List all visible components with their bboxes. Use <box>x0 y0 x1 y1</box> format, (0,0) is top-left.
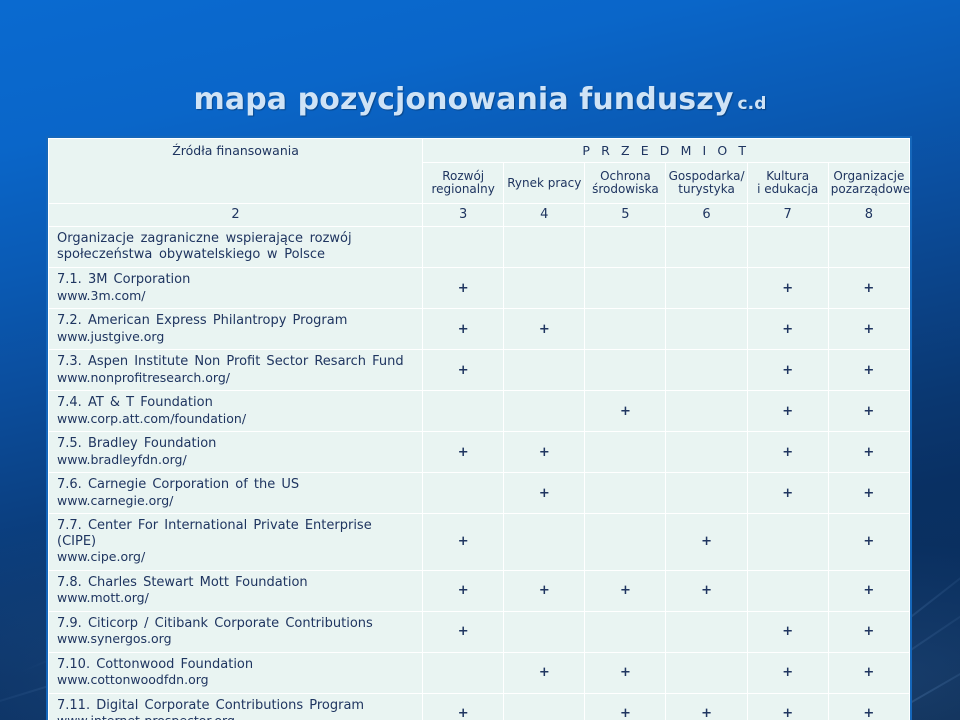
mark-cell-col7: + <box>747 391 828 432</box>
source-url[interactable]: www.carnegie.org/ <box>57 493 414 509</box>
mark-cell-col7 <box>747 570 828 611</box>
source-url[interactable]: www.nonprofitresearch.org/ <box>57 370 414 386</box>
source-cell: 7.8. Charles Stewart Mott Foundationwww.… <box>49 570 423 611</box>
mark-cell-col5 <box>585 268 666 309</box>
mark-cell-col3 <box>423 391 504 432</box>
mark-cell-col3 <box>423 227 504 268</box>
mark-cell-col5 <box>585 350 666 391</box>
table-row: 7.7. Center For International Private En… <box>49 514 910 571</box>
column-number-7: 7 <box>747 204 828 227</box>
mark-cell-col7 <box>747 514 828 571</box>
funding-sources-table: Źródła finansowania P R Z E D M I O T Ro… <box>48 138 910 720</box>
source-url[interactable]: www.3m.com/ <box>57 288 414 304</box>
table-row: 7.9. Citicorp / Citibank Corporate Contr… <box>49 611 910 652</box>
slide-title: mapa pozycjonowania funduszyc.d <box>0 82 960 117</box>
mark-cell-col5 <box>585 514 666 571</box>
mark-cell-col5 <box>585 309 666 350</box>
table-section-row: Organizacje zagraniczne wspierające rozw… <box>49 227 910 268</box>
mark-cell-col6: + <box>666 693 747 720</box>
table-row: 7.8. Charles Stewart Mott Foundationwww.… <box>49 570 910 611</box>
header-column-3: Rozwójregionalny <box>423 163 504 204</box>
mark-cell-col8: + <box>828 652 909 693</box>
source-name: 7.6. Carnegie Corporation of the US <box>57 477 414 493</box>
mark-cell-col7: + <box>747 693 828 720</box>
source-cell: 7.5. Bradley Foundationwww.bradleyfdn.or… <box>49 432 423 473</box>
mark-cell-col5 <box>585 473 666 514</box>
mark-cell-col4 <box>504 514 585 571</box>
slide-title-main: mapa pozycjonowania funduszy <box>194 82 734 117</box>
header-column-5: Ochronaśrodowiska <box>585 163 666 204</box>
mark-cell-col4: + <box>504 473 585 514</box>
mark-cell-col4: + <box>504 652 585 693</box>
mark-cell-col7: + <box>747 652 828 693</box>
funding-sources-table-container: Źródła finansowania P R Z E D M I O T Ro… <box>46 136 912 720</box>
source-url[interactable]: www.cipe.org/ <box>57 549 414 565</box>
source-name: 7.1. 3M Corporation <box>57 272 414 288</box>
source-url[interactable]: www.synergos.org <box>57 631 414 647</box>
table-head: Źródła finansowania P R Z E D M I O T Ro… <box>49 139 910 227</box>
source-url[interactable]: www.justgive.org <box>57 329 414 345</box>
mark-cell-col3: + <box>423 693 504 720</box>
mark-cell-col5: + <box>585 391 666 432</box>
mark-cell-col6 <box>666 227 747 268</box>
source-url[interactable]: www.corp.att.com/foundation/ <box>57 411 414 427</box>
table-row: 7.2. American Express Philantropy Progra… <box>49 309 910 350</box>
mark-cell-col3: + <box>423 350 504 391</box>
source-name: 7.8. Charles Stewart Mott Foundation <box>57 575 414 591</box>
header-column-6: Gospodarka/turystyka <box>666 163 747 204</box>
mark-cell-col8: + <box>828 432 909 473</box>
source-url[interactable]: www.mott.org/ <box>57 590 414 606</box>
source-cell: 7.11. Digital Corporate Contributions Pr… <box>49 693 423 720</box>
mark-cell-col5: + <box>585 570 666 611</box>
source-url[interactable]: www.internet-prospector.org <box>57 713 414 720</box>
header-group-label: P R Z E D M I O T <box>423 139 910 163</box>
mark-cell-col7: + <box>747 432 828 473</box>
mark-cell-col6 <box>666 309 747 350</box>
mark-cell-col8: + <box>828 693 909 720</box>
table-row: 7.5. Bradley Foundationwww.bradleyfdn.or… <box>49 432 910 473</box>
slide-canvas: mapa pozycjonowania funduszyc.d Źródła f… <box>0 0 960 720</box>
header-column-4: Rynek pracy <box>504 163 585 204</box>
mark-cell-col6 <box>666 611 747 652</box>
mark-cell-col5: + <box>585 652 666 693</box>
header-column-line: Rynek pracy <box>506 177 582 190</box>
table-body: Organizacje zagraniczne wspierające rozw… <box>49 227 910 720</box>
column-number-8: 8 <box>828 204 909 227</box>
mark-cell-col6 <box>666 473 747 514</box>
mark-cell-col6: + <box>666 570 747 611</box>
header-column-line: regionalny <box>425 183 501 196</box>
mark-cell-col8: + <box>828 514 909 571</box>
mark-cell-col5 <box>585 227 666 268</box>
header-column-line: środowiska <box>587 183 663 196</box>
mark-cell-col8: + <box>828 309 909 350</box>
mark-cell-col6: + <box>666 514 747 571</box>
column-number-6: 6 <box>666 204 747 227</box>
mark-cell-col4 <box>504 391 585 432</box>
mark-cell-col4: + <box>504 432 585 473</box>
table-row: 7.6. Carnegie Corporation of the USwww.c… <box>49 473 910 514</box>
mark-cell-col5 <box>585 432 666 473</box>
mark-cell-col5: + <box>585 693 666 720</box>
mark-cell-col3: + <box>423 611 504 652</box>
source-name: 7.9. Citicorp / Citibank Corporate Contr… <box>57 616 414 632</box>
header-column-7: Kulturai edukacja <box>747 163 828 204</box>
source-cell: 7.7. Center For International Private En… <box>49 514 423 571</box>
mark-cell-col3: + <box>423 309 504 350</box>
mark-cell-col3 <box>423 652 504 693</box>
source-url[interactable]: www.cottonwoodfdn.org <box>57 672 414 688</box>
source-cell: 7.4. AT & T Foundationwww.corp.att.com/f… <box>49 391 423 432</box>
mark-cell-col6 <box>666 652 747 693</box>
mark-cell-col4 <box>504 268 585 309</box>
mark-cell-col7: + <box>747 350 828 391</box>
mark-cell-col6 <box>666 268 747 309</box>
table-row: 7.10. Cottonwood Foundationwww.cottonwoo… <box>49 652 910 693</box>
mark-cell-col6 <box>666 432 747 473</box>
source-cell: 7.3. Aspen Institute Non Profit Sector R… <box>49 350 423 391</box>
mark-cell-col4 <box>504 611 585 652</box>
source-name: Organizacje zagraniczne wspierające rozw… <box>57 231 414 262</box>
source-name: 7.10. Cottonwood Foundation <box>57 657 414 673</box>
table-row: 7.1. 3M Corporationwww.3m.com/+++ <box>49 268 910 309</box>
mark-cell-col8: + <box>828 350 909 391</box>
source-cell: 7.1. 3M Corporationwww.3m.com/ <box>49 268 423 309</box>
mark-cell-col4: + <box>504 309 585 350</box>
mark-cell-col6 <box>666 391 747 432</box>
mark-cell-col8: + <box>828 391 909 432</box>
header-column-line: pozarządowe <box>831 183 907 196</box>
mark-cell-col3: + <box>423 268 504 309</box>
header-column-8: Organizacjepozarządowe <box>828 163 909 204</box>
mark-cell-col4 <box>504 227 585 268</box>
mark-cell-col7 <box>747 227 828 268</box>
source-cell: 7.2. American Express Philantropy Progra… <box>49 309 423 350</box>
source-name: 7.3. Aspen Institute Non Profit Sector R… <box>57 354 414 370</box>
column-number-3: 3 <box>423 204 504 227</box>
mark-cell-col4: + <box>504 570 585 611</box>
mark-cell-col6 <box>666 350 747 391</box>
column-number-2: 2 <box>49 204 423 227</box>
header-column-line: turystyka <box>668 183 744 196</box>
mark-cell-col5 <box>585 611 666 652</box>
source-name: 7.4. AT & T Foundation <box>57 395 414 411</box>
mark-cell-col8: + <box>828 570 909 611</box>
mark-cell-col7: + <box>747 268 828 309</box>
table-row: 7.3. Aspen Institute Non Profit Sector R… <box>49 350 910 391</box>
mark-cell-col8 <box>828 227 909 268</box>
source-name: 7.2. American Express Philantropy Progra… <box>57 313 414 329</box>
source-url[interactable]: www.bradleyfdn.org/ <box>57 452 414 468</box>
header-row-numbers: 2345678 <box>49 204 910 227</box>
table-row: 7.11. Digital Corporate Contributions Pr… <box>49 693 910 720</box>
mark-cell-col7: + <box>747 611 828 652</box>
column-number-4: 4 <box>504 204 585 227</box>
mark-cell-col3 <box>423 473 504 514</box>
mark-cell-col8: + <box>828 611 909 652</box>
source-cell: 7.9. Citicorp / Citibank Corporate Contr… <box>49 611 423 652</box>
mark-cell-col8: + <box>828 268 909 309</box>
source-cell: Organizacje zagraniczne wspierające rozw… <box>49 227 423 268</box>
source-cell: 7.10. Cottonwood Foundationwww.cottonwoo… <box>49 652 423 693</box>
column-number-5: 5 <box>585 204 666 227</box>
mark-cell-col4 <box>504 693 585 720</box>
source-cell: 7.6. Carnegie Corporation of the USwww.c… <box>49 473 423 514</box>
header-source-label: Źródła finansowania <box>49 139 423 204</box>
mark-cell-col7: + <box>747 473 828 514</box>
mark-cell-col3: + <box>423 570 504 611</box>
mark-cell-col3: + <box>423 514 504 571</box>
header-row-group: Źródła finansowania P R Z E D M I O T <box>49 139 910 163</box>
mark-cell-col4 <box>504 350 585 391</box>
source-name: 7.11. Digital Corporate Contributions Pr… <box>57 698 414 714</box>
slide-title-suffix: c.d <box>737 94 766 114</box>
mark-cell-col7: + <box>747 309 828 350</box>
mark-cell-col8: + <box>828 473 909 514</box>
source-name: 7.7. Center For International Private En… <box>57 518 414 549</box>
table-row: 7.4. AT & T Foundationwww.corp.att.com/f… <box>49 391 910 432</box>
source-name: 7.5. Bradley Foundation <box>57 436 414 452</box>
header-column-line: i edukacja <box>750 183 826 196</box>
mark-cell-col3: + <box>423 432 504 473</box>
